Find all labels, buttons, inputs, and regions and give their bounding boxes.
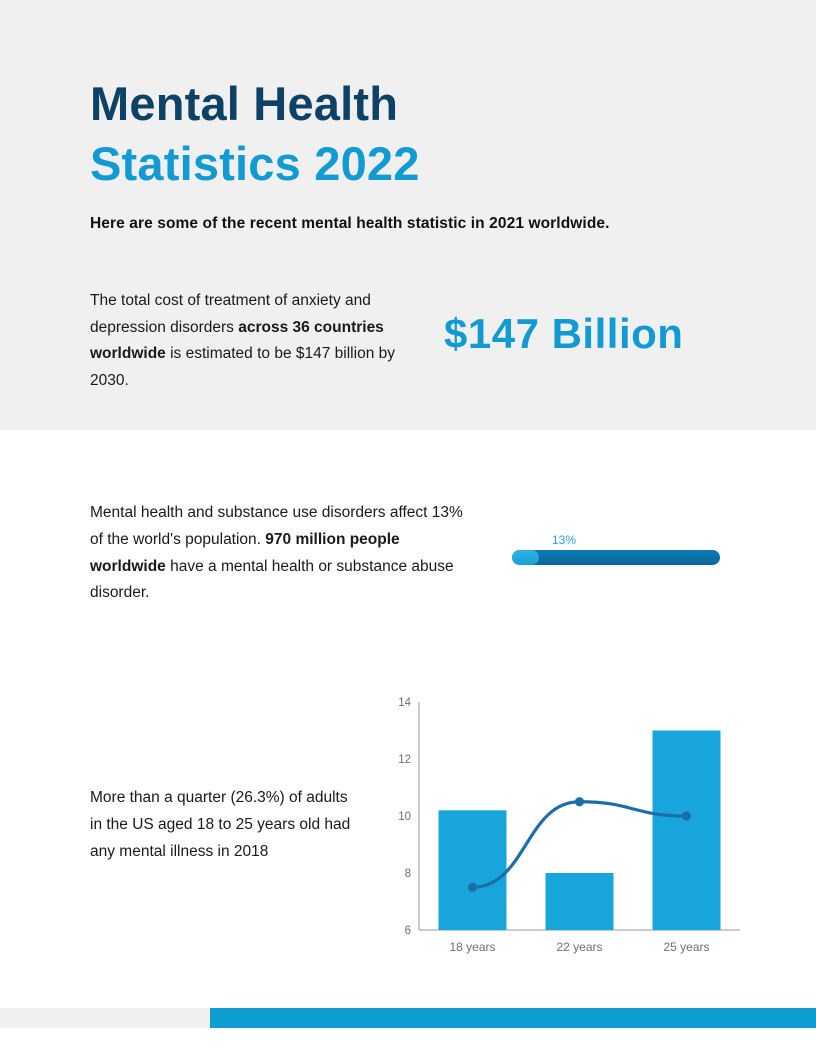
stat-youth-description: More than a quarter (26.3%) of adults in… (90, 785, 360, 865)
page-subtitle: Here are some of the recent mental healt… (90, 215, 750, 233)
stat-population-description: Mental health and substance use disorder… (90, 500, 470, 607)
stat-cost-description: The total cost of treatment of anxiety a… (90, 288, 420, 395)
x-axis-category-label: 18 years (449, 940, 495, 954)
y-axis-tick-label: 12 (398, 754, 411, 766)
y-axis-tick-label: 14 (398, 697, 411, 709)
stat-cost-figure: $147 Billion (444, 310, 774, 358)
progress-bar-fill (512, 550, 539, 565)
age-mental-illness-chart: 6810121418 years22 years25 years (390, 690, 750, 965)
progress-bar-track (512, 550, 720, 565)
y-axis-tick-label: 10 (398, 811, 411, 823)
chart-bar (546, 873, 614, 930)
progress-value-label: 13% (552, 534, 720, 546)
x-axis-category-label: 22 years (556, 940, 602, 954)
x-axis-category-label: 25 years (663, 940, 709, 954)
chart-line-marker (682, 811, 691, 820)
y-axis-tick-label: 8 (405, 868, 411, 880)
footer-gray-strip (0, 1008, 210, 1028)
chart-bar (653, 731, 721, 931)
chart-line-marker (468, 883, 477, 892)
title-line-primary: Mental Health (90, 74, 730, 134)
title-line-secondary: Statistics 2022 (90, 134, 730, 194)
page-title: Mental Health Statistics 2022 (90, 74, 730, 193)
footer-accent-bar (210, 1008, 816, 1028)
chart-svg-canvas: 6810121418 years22 years25 years (390, 690, 750, 965)
y-axis-tick-label: 6 (405, 925, 411, 937)
chart-line-marker (575, 797, 584, 806)
progress-bar-group: 13% (512, 534, 720, 565)
chart-bar (439, 810, 507, 930)
